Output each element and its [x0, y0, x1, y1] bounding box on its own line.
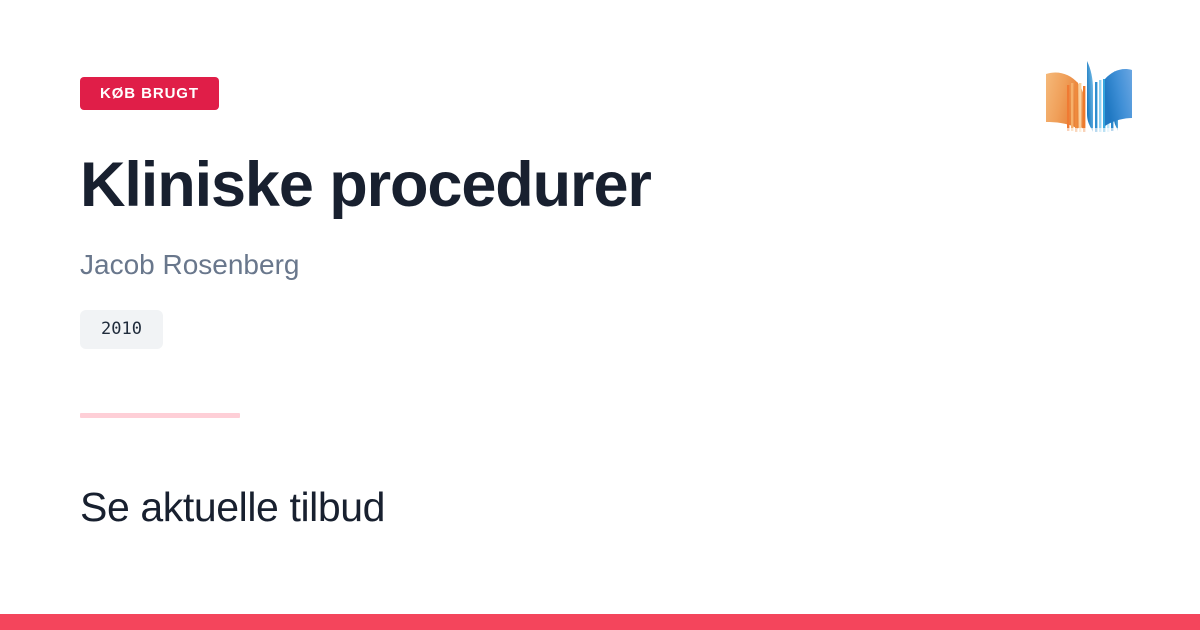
bottom-accent-bar [0, 614, 1200, 630]
logo-mark [1046, 61, 1132, 132]
book-promo-card: KØB BRUGT [0, 0, 1200, 630]
publication-year-chip: 2010 [80, 310, 163, 349]
section-divider [80, 413, 240, 418]
status-badge-used-books[interactable]: KØB BRUGT [80, 77, 219, 110]
cta-heading-current-offers[interactable]: Se aktuelle tilbud [80, 483, 385, 532]
book-author: Jacob Rosenberg [80, 248, 299, 282]
badge-label: KØB BRUGT [100, 86, 199, 101]
open-book-logo [1042, 52, 1136, 150]
publication-year-value: 2010 [101, 321, 142, 338]
page-title: Kliniske procedurer [80, 152, 651, 218]
